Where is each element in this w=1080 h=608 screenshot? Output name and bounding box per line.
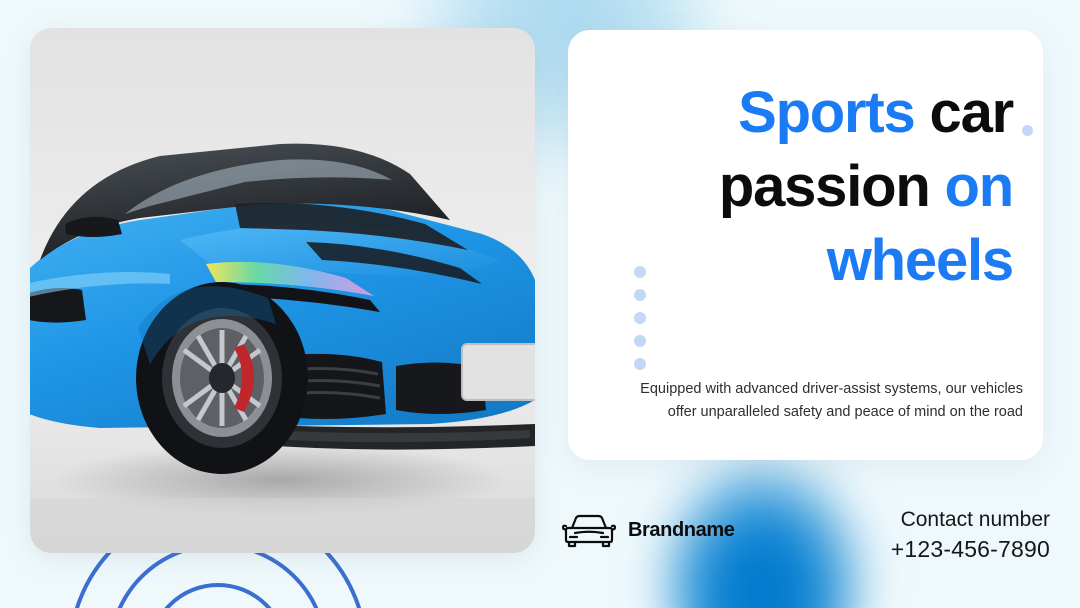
brand-block[interactable]: Brandname: [562, 512, 734, 548]
page-title: Sports car passion on wheels: [590, 76, 1013, 299]
headline-word-car: car: [915, 80, 1013, 145]
hero-car-photo: [30, 28, 535, 553]
headline-word-sports: Sports: [738, 80, 915, 145]
dot-column-decoration: [634, 266, 646, 370]
headline-word-on: on: [945, 154, 1013, 219]
car-illustration: [30, 28, 535, 553]
contact-number[interactable]: +123-456-7890: [891, 534, 1050, 565]
headline-word-passion: passion: [719, 154, 945, 219]
poster-canvas: Sports car passion on wheels Equipped wi…: [0, 0, 1080, 608]
headline-card: Sports car passion on wheels Equipped wi…: [568, 30, 1043, 460]
brand-name-label: Brandname: [628, 519, 734, 542]
accent-dot: [634, 266, 646, 278]
accent-dot: [634, 335, 646, 347]
headline-word-wheels: wheels: [827, 228, 1013, 293]
contact-block[interactable]: Contact number +123-456-7890: [891, 506, 1050, 565]
edge-accent-dot: [1022, 125, 1033, 136]
contact-label: Contact number: [891, 506, 1050, 534]
car-front-icon: [562, 512, 616, 548]
body-paragraph: Equipped with advanced driver-assist sys…: [610, 378, 1023, 425]
accent-dot: [634, 312, 646, 324]
accent-dot: [634, 358, 646, 370]
accent-dot: [634, 289, 646, 301]
